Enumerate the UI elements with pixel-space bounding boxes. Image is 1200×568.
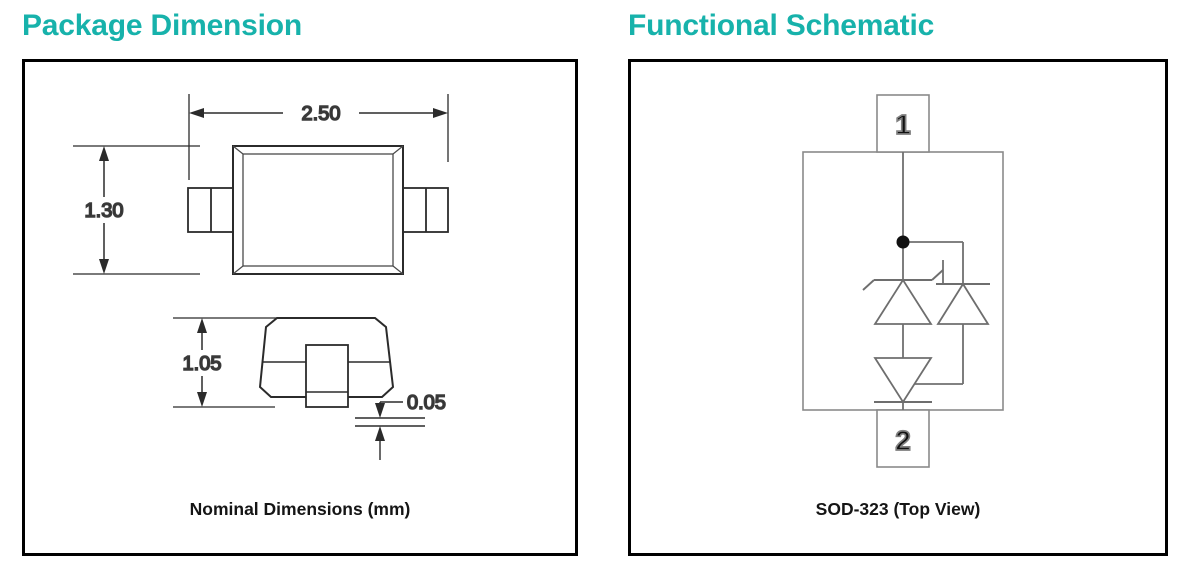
series-diode-symbol: [874, 358, 932, 402]
dimension-label-standoff: 0.05: [407, 392, 446, 414]
package-lead-right: [403, 188, 448, 232]
functional-schematic-title: Functional Schematic: [628, 9, 934, 43]
package-lead-left: [188, 188, 233, 232]
schematic-figure-border: 1 2 SOD-323 (Top View): [628, 59, 1168, 556]
package-dimension-title: Package Dimension: [22, 9, 302, 43]
pin-1-label: 1: [895, 109, 911, 140]
pin-2-label: 2: [895, 425, 911, 456]
schematic-drawing: 1 2: [631, 62, 1165, 553]
parallel-diode-symbol: [936, 284, 990, 324]
package-side-lead: [306, 345, 348, 407]
package-top-view-body: [233, 146, 403, 274]
package-figure-caption: Nominal Dimensions (mm): [25, 499, 575, 520]
schematic-figure-caption: SOD-323 (Top View): [631, 499, 1165, 520]
dimension-label-width: 2.50: [302, 103, 341, 125]
dimension-label-side-height: 1.05: [183, 353, 222, 375]
junction-dot-top: [897, 236, 910, 249]
package-drawing: 2.50 1.30: [25, 62, 575, 553]
package-figure-border: 2.50 1.30: [22, 59, 578, 556]
dimension-label-height: 1.30: [85, 200, 124, 222]
